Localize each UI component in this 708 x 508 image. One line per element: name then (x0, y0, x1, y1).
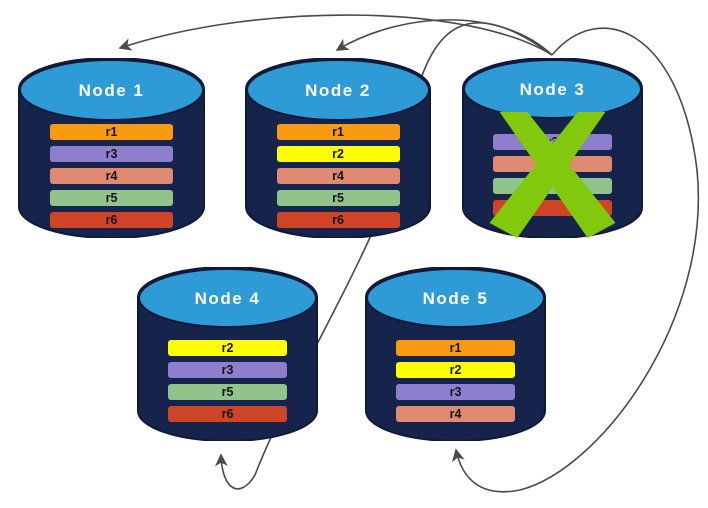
node-5-replica-r3[interactable]: r3 (396, 384, 515, 400)
node-2-replica-r1[interactable]: r1 (277, 124, 400, 140)
node-2-replica-r4[interactable]: r4 (277, 168, 400, 184)
node-5-replica-r4[interactable]: r4 (396, 406, 515, 422)
node-4-replica-r3[interactable]: r3 (168, 362, 287, 378)
node-2-label: Node 2 (245, 81, 431, 101)
node-1-replica-list: r1r3r4r5r6 (18, 124, 205, 228)
node-3-replica-list: r3 (462, 134, 643, 216)
node-1-label: Node 1 (18, 81, 205, 101)
node-5[interactable]: Node 5r1r2r3r4 (365, 267, 546, 441)
node-1[interactable]: Node 1r1r3r4r5r6 (18, 58, 205, 238)
node-3-replica-r3[interactable]: r3 (493, 134, 612, 150)
node-2[interactable]: Node 2r1r2r4r5r6 (245, 58, 431, 238)
node-4-replica-r2[interactable]: r2 (168, 340, 287, 356)
node-1-replica-r6[interactable]: r6 (50, 212, 173, 228)
node-1-replica-r5[interactable]: r5 (50, 190, 173, 206)
node-5-replica-r2[interactable]: r2 (396, 362, 515, 378)
node-4-label: Node 4 (137, 289, 318, 309)
node-4[interactable]: Node 4r2r3r5r6 (137, 267, 318, 441)
arrow-node3-to-node1 (120, 15, 552, 55)
node-2-replica-r5[interactable]: r5 (277, 190, 400, 206)
node-5-replica-r1[interactable]: r1 (396, 340, 515, 356)
node-2-replica-list: r1r2r4r5r6 (245, 124, 431, 228)
node-3-replica-2[interactable] (493, 156, 612, 172)
node-5-replica-list: r1r2r3r4 (365, 340, 546, 422)
node-4-replica-r6[interactable]: r6 (168, 406, 287, 422)
node-1-replica-r1[interactable]: r1 (50, 124, 173, 140)
diagram-canvas: Node 1r1r3r4r5r6Node 2r1r2r4r5r6Node 3r3… (0, 0, 708, 508)
node-4-replica-r5[interactable]: r5 (168, 384, 287, 400)
node-3[interactable]: Node 3r3 (462, 58, 643, 238)
node-3-replica-3[interactable] (493, 178, 612, 194)
node-5-label: Node 5 (365, 289, 546, 309)
node-1-replica-r4[interactable]: r4 (50, 168, 173, 184)
node-3-label: Node 3 (462, 80, 643, 100)
arrow-node3-to-node2 (337, 20, 552, 55)
node-2-replica-r2[interactable]: r2 (277, 146, 400, 162)
node-1-replica-r3[interactable]: r3 (50, 146, 173, 162)
node-3-replica-4[interactable] (493, 200, 612, 216)
node-4-replica-list: r2r3r5r6 (137, 340, 318, 422)
node-2-replica-r6[interactable]: r6 (277, 212, 400, 228)
